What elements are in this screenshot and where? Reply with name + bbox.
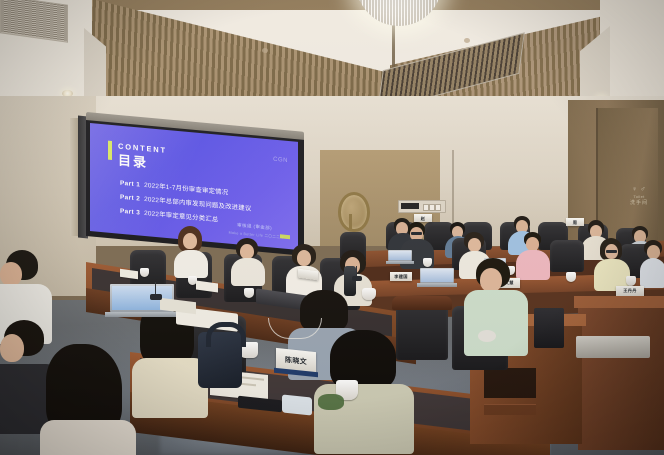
cup: [566, 272, 576, 282]
light-switch-panel[interactable]: [398, 200, 446, 213]
cup: [423, 258, 432, 267]
glasses-icon: [411, 232, 422, 235]
plant-decor: [318, 394, 344, 410]
teapot: [362, 288, 376, 300]
nameplate: 王丹丹: [616, 286, 644, 296]
desk-cubby: [484, 368, 536, 398]
restroom-sign-chinese: 洗手间: [622, 199, 656, 206]
company-emblem-icon: [338, 192, 370, 232]
slide-logo: CGN: [273, 157, 288, 164]
slide-footer-mark: [280, 234, 290, 239]
slide-footer-presenter: 审核组 (审金部): [237, 222, 272, 231]
cup: [626, 276, 636, 286]
restroom-sign: ♀ ♂ Toilet 洗手间: [622, 186, 656, 216]
laptop[interactable]: [420, 268, 454, 288]
nameplate-text: 赵: [414, 216, 432, 222]
slide-part-3-text: 2022年审定意见分类汇总: [144, 210, 218, 224]
nameplate: 李建国: [390, 272, 412, 281]
slide-part-2-number: Part 2: [120, 194, 140, 203]
slide-heading: 目录: [118, 150, 148, 172]
ceiling-spot: [464, 38, 470, 43]
microphone[interactable]: [150, 294, 162, 300]
slide-part-3-number: Part 3: [120, 208, 140, 217]
laptop[interactable]: [388, 250, 412, 265]
company-emblem-stem: [349, 214, 352, 230]
nameplate: 赵: [414, 214, 432, 222]
chair-wood-trim: [392, 296, 452, 310]
desk-drawer[interactable]: [484, 404, 536, 415]
paper-stack: [282, 394, 312, 415]
nameplate-text: 陈晓文: [276, 354, 316, 368]
nameplate-text: 王丹丹: [616, 288, 644, 294]
chandelier-ribs: [356, 0, 442, 26]
nameplate-text: 周: [566, 220, 584, 226]
mouse[interactable]: [478, 330, 496, 342]
slide-part-1-number: Part 1: [120, 180, 140, 189]
nameplate: 周: [566, 218, 584, 226]
nameplate-text: 李建国: [390, 274, 412, 280]
right-desk-block: [578, 300, 664, 450]
tablet[interactable]: [534, 308, 578, 350]
thermos-bottle: [344, 266, 356, 296]
microphone[interactable]: [352, 276, 362, 281]
meeting-room-photo: ♀ ♂ Toilet 洗手间 CONTENT 目录 CGN Part 12022…: [0, 0, 664, 455]
chair[interactable]: [550, 240, 584, 272]
restroom-glyph-icon: ♀ ♂: [622, 186, 656, 194]
ceiling-spot: [262, 48, 268, 53]
slide-footer-tagline: Make a Better Life 二〇二二年: [229, 231, 284, 241]
right-desk-top: [574, 296, 664, 308]
slide-accent-bar: [108, 141, 112, 160]
keyboard[interactable]: [576, 336, 650, 358]
cup: [140, 268, 149, 277]
glasses-icon: [606, 250, 617, 253]
cup: [244, 288, 254, 298]
handbag-strap: [206, 322, 246, 347]
